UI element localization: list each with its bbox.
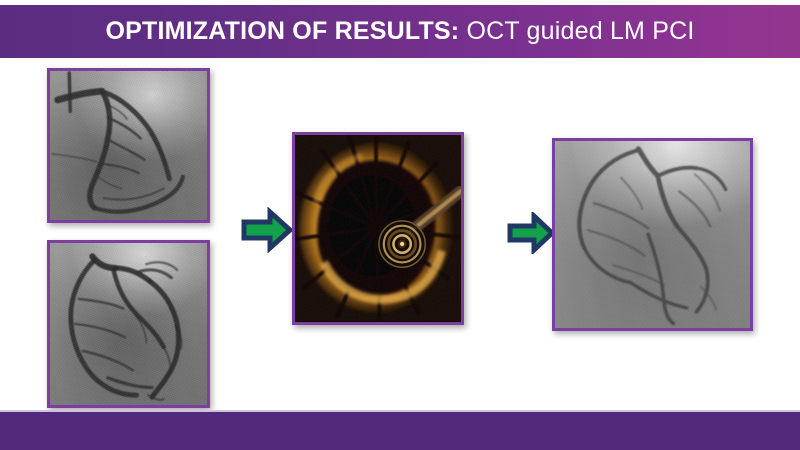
angiogram-grain (50, 71, 207, 220)
page-title: OPTIMIZATION OF RESULTS: OCT guided LM P… (105, 19, 694, 44)
angiogram-grain (555, 141, 750, 328)
flow-arrow-right-1 (240, 207, 294, 253)
oct-image (295, 135, 461, 322)
slide: OPTIMIZATION OF RESULTS: OCT guided LM P… (0, 0, 800, 450)
oct-cross-section (292, 132, 464, 325)
oct-vessel-rendering (295, 135, 461, 321)
slide-bottom-bar (0, 412, 800, 450)
slide-title-bar: OPTIMIZATION OF RESULTS: OCT guided LM P… (0, 5, 800, 58)
angiogram-post-image (555, 141, 750, 328)
angiogram-pre-2 (47, 240, 210, 408)
page-title-rest: OCT guided LM PCI (459, 17, 694, 45)
angiogram-post (552, 138, 753, 331)
angiogram-pre-1 (47, 68, 210, 223)
angiogram-grain (50, 243, 207, 405)
page-title-strong: OPTIMIZATION OF RESULTS: (105, 17, 459, 45)
flow-arrow-right-2 (506, 212, 556, 254)
angiogram-pre-1-image (50, 71, 207, 220)
angiogram-pre-2-image (50, 243, 207, 405)
